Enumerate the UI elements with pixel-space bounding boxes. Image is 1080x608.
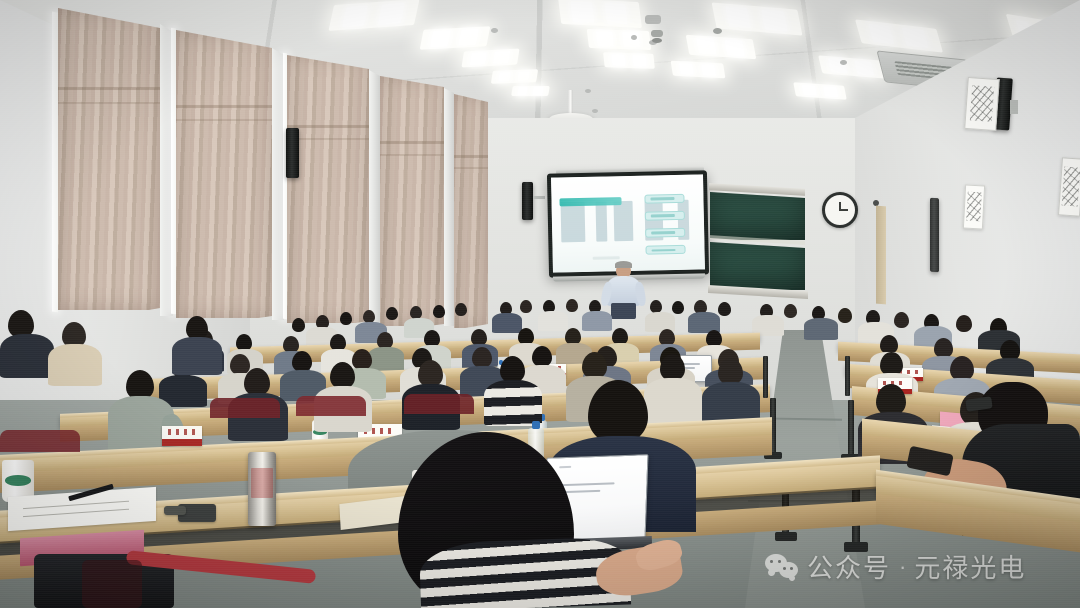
wall-pilaster [444, 88, 454, 326]
ceiling-light-panel [461, 49, 519, 68]
attendee-torso [644, 378, 702, 424]
attendee-torso [0, 334, 54, 378]
attendee-head [500, 356, 525, 383]
attendee-head [455, 303, 467, 316]
attendee-head [418, 360, 443, 387]
attendee-torso [172, 337, 222, 375]
ceiling-sensor-dot [840, 60, 847, 65]
attendee-head [352, 349, 372, 370]
attendee-head [956, 315, 972, 332]
speaker-bracket [533, 196, 545, 199]
wall-speaker [522, 182, 533, 220]
window-curtain [454, 94, 488, 328]
attendee-head [472, 347, 492, 368]
chalkboard-panel [710, 242, 805, 290]
slide-button [644, 211, 684, 221]
wall-speaker [286, 128, 299, 178]
slide-button [645, 245, 685, 255]
ceiling-light-panel [491, 69, 538, 84]
attendee-head [934, 338, 953, 358]
presenter-hair [615, 261, 632, 268]
seat-back [296, 396, 366, 416]
eyeglasses [164, 506, 186, 515]
attendee-torso [538, 311, 568, 331]
ceiling-light-panel [420, 26, 491, 49]
attendee-head [784, 304, 797, 318]
desk-leg [845, 356, 850, 396]
attendee-head [894, 312, 909, 328]
ceiling-fixture [645, 15, 661, 24]
attendee-head [672, 301, 684, 314]
thermos-flask [248, 452, 276, 526]
slide-button [645, 228, 685, 238]
watermark-separator: · [899, 554, 906, 580]
window-curtain [176, 30, 272, 318]
attendee-head [340, 312, 352, 325]
watermark: 公众号 · 元禄光电 [765, 548, 1026, 585]
ceiling-sensor-dot [592, 109, 598, 113]
ceiling-light-panel [603, 52, 655, 69]
ceiling-light-panel [587, 29, 652, 50]
watermark-account-name: 元禄光电 [914, 548, 1026, 585]
seat-back [210, 398, 280, 418]
seat-back [0, 430, 80, 452]
ceiling-sensor-dot [631, 35, 637, 40]
attendee-torso [582, 311, 612, 331]
projected-slide [551, 174, 705, 272]
wall-framed-picture [1058, 157, 1080, 216]
ceiling-sensor-dot [652, 38, 662, 43]
attendee-head [433, 305, 445, 318]
attendee-head [292, 318, 305, 332]
desk-leg [848, 400, 854, 456]
seat-back [82, 560, 142, 608]
wall-framed-picture [963, 185, 985, 230]
attendee-head [718, 358, 743, 385]
attendee-head [660, 354, 685, 381]
window-curtain [380, 76, 444, 326]
wechat-logo-icon [765, 553, 799, 581]
attendee-head [292, 351, 312, 372]
attendee-head [244, 368, 270, 396]
slide-footer-text [592, 256, 619, 259]
attendee-head [330, 362, 355, 389]
desk-leg-foot [775, 532, 797, 541]
attendee-torso [484, 380, 542, 426]
watermark-label: 公众号 [807, 548, 891, 585]
desk-leg [763, 356, 768, 398]
speaker-bracket [1010, 100, 1018, 114]
ceiling-sensor-dot [651, 30, 663, 37]
ceiling-sensor-dot [585, 89, 591, 93]
slide-label [561, 202, 586, 242]
ceiling-light-panel [558, 0, 642, 28]
ceiling-sensor-dot [713, 28, 722, 34]
wall-door-strip [876, 206, 886, 305]
slide-label [614, 201, 633, 241]
lecture-hall-photo: 公众号 · 元禄光电 [0, 0, 1080, 608]
attendee-torso [48, 344, 102, 386]
wall-clock [822, 192, 858, 228]
wall-speaker [930, 198, 939, 273]
attendee-torso [804, 318, 838, 340]
ceiling-sensor-dot [491, 28, 498, 33]
presenter-trousers [611, 303, 636, 319]
attendee-head [520, 300, 532, 313]
name-card [162, 426, 202, 446]
slide-label [596, 201, 607, 241]
ceiling-light-panel [671, 61, 726, 79]
window-light-gap [52, 12, 58, 313]
window-light-gap [283, 53, 287, 319]
wall-pilaster [369, 70, 380, 322]
ceiling-light-panel [511, 86, 550, 96]
attendee-head [532, 346, 552, 367]
attendee-head [566, 299, 578, 312]
attendee-head [838, 308, 852, 323]
wall-framed-picture [964, 77, 1000, 131]
chalkboard-panel [710, 192, 805, 240]
window-curtain [287, 55, 369, 323]
attendee-head [582, 352, 607, 379]
attendee-torso [492, 313, 522, 333]
attendee-head [386, 307, 398, 320]
window-curtain [58, 8, 160, 310]
window-light-gap [171, 28, 176, 315]
slide-button [644, 194, 684, 204]
attendee-head [718, 302, 731, 316]
seat-back [404, 394, 474, 414]
